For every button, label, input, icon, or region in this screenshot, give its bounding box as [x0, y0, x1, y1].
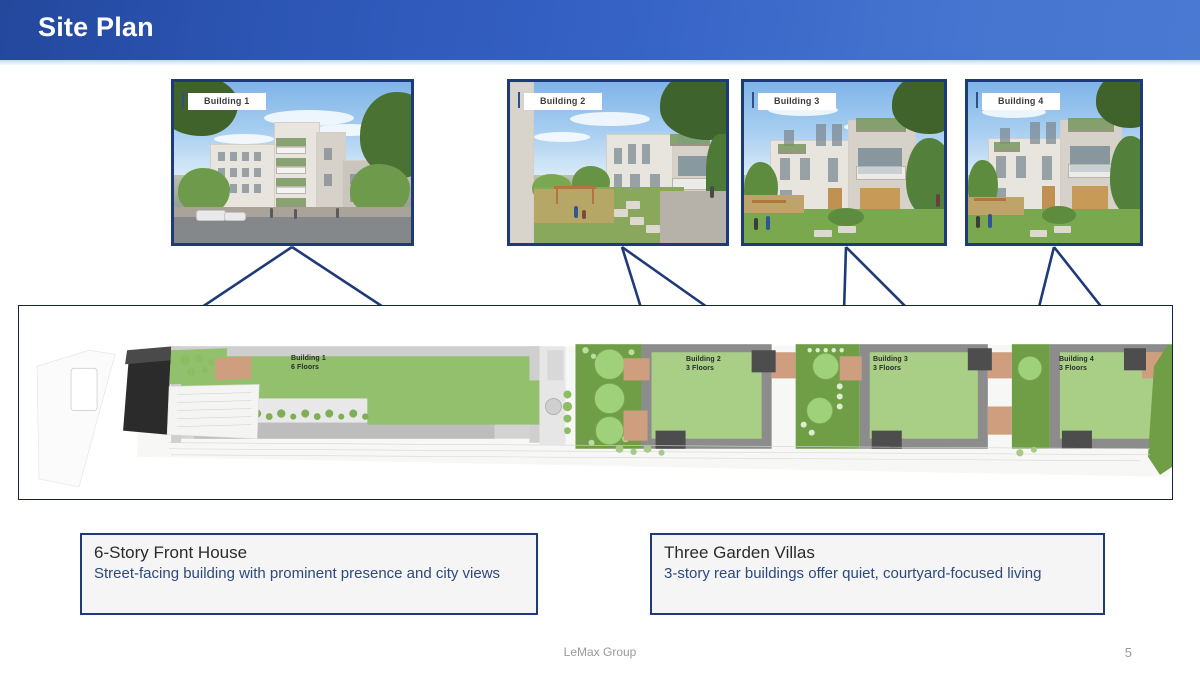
entry-terrace-tan [215, 356, 251, 380]
cloud-shape [570, 112, 650, 126]
building1-courtyard-green [367, 380, 547, 424]
entry-canopy [547, 350, 563, 380]
label-tick [518, 92, 520, 108]
slide-header-bar [0, 0, 1200, 60]
tree-canopy [1110, 136, 1143, 216]
header-underline [0, 60, 1200, 65]
photo-label-4: Building 4 [982, 93, 1060, 110]
window [832, 124, 842, 146]
balcony-railing [276, 166, 306, 174]
window [230, 184, 237, 193]
villa2-entry-dark [752, 350, 776, 372]
window [324, 174, 332, 186]
stepping-stone [814, 230, 832, 237]
window-large [678, 156, 708, 176]
photo-label-2: Building 2 [524, 93, 602, 110]
site-plan-drawing [19, 306, 1172, 499]
window [1046, 122, 1056, 144]
stepping-stone [626, 201, 640, 209]
window [1016, 156, 1026, 178]
villa2-terrace-sw [624, 411, 648, 441]
tree-canopy [906, 138, 947, 218]
building-photo-4[interactable]: Building 4 [965, 79, 1143, 246]
stepping-stone [614, 209, 628, 217]
balcony-railing [1068, 164, 1114, 178]
stepping-stone [646, 225, 660, 233]
footer-page-number: 5 [1125, 645, 1132, 660]
parked-car [224, 212, 246, 221]
walkway [660, 191, 729, 243]
plan-label-building-3: Building 33 Floors [873, 355, 908, 373]
stepping-stone [838, 226, 856, 233]
label-tick [182, 92, 184, 108]
window [816, 124, 826, 146]
window [324, 148, 332, 160]
window [1042, 156, 1052, 180]
villa3-terrace-se [988, 407, 1012, 435]
stepping-stone [1054, 226, 1071, 233]
stepping-stone [630, 217, 644, 225]
villa3-parking [872, 431, 902, 449]
villa3-entry-dark [968, 348, 992, 370]
pedestrian [936, 194, 940, 207]
shrub [1042, 206, 1076, 224]
pedestrian [336, 208, 339, 218]
pedestrian [582, 210, 586, 219]
balcony-railing [276, 146, 306, 154]
balcony-railing [276, 186, 306, 194]
window [800, 158, 810, 180]
caption-box-garden-villas[interactable]: Three Garden Villas 3-story rear buildin… [650, 533, 1105, 615]
play-area-sand [744, 195, 804, 213]
pedestrian [294, 209, 297, 219]
window [1030, 122, 1040, 144]
label-tick [976, 92, 978, 108]
window [628, 144, 636, 164]
building-photo-1[interactable]: Building 1 [171, 79, 414, 246]
footer-company-name: LeMax Group [0, 645, 1200, 659]
window [828, 158, 838, 182]
pedestrian [754, 218, 758, 230]
playground-frame [974, 198, 1006, 201]
window [242, 152, 249, 161]
pedestrian [988, 214, 992, 228]
villa4-entry-dark [1124, 348, 1146, 370]
playground-frame [752, 200, 786, 203]
window [614, 148, 622, 164]
photo-label-3: Building 3 [758, 93, 836, 110]
pedestrian [976, 216, 980, 228]
page-title: Site Plan [38, 12, 154, 43]
window [254, 152, 261, 161]
pedestrian [574, 206, 578, 218]
courtyard-trees-2 [1018, 356, 1042, 380]
caption-box-front-house[interactable]: 6-Story Front House Street-facing buildi… [80, 533, 538, 615]
playground-frame [554, 186, 596, 189]
site-plan-frame[interactable]: Building 16 Floors Building 23 Floors Bu… [18, 305, 1173, 500]
window [254, 184, 261, 193]
pedestrian [270, 208, 273, 218]
parked-car [196, 210, 226, 221]
cloud-shape [534, 132, 590, 142]
plan-label-building-2: Building 23 Floors [686, 355, 721, 373]
window [642, 144, 650, 164]
pedestrian [710, 186, 714, 198]
window [230, 168, 237, 177]
window [996, 156, 1006, 178]
parked-car-plan [71, 368, 97, 410]
playground-post [556, 186, 558, 204]
caption-body-2: 3-story rear buildings offer quiet, cour… [664, 564, 1091, 584]
stepping-stone [1030, 230, 1047, 237]
balcony-railing [856, 166, 906, 180]
window [780, 158, 790, 180]
window [242, 168, 249, 177]
balcony-planting [994, 142, 1020, 152]
plan-label-building-1: Building 16 Floors [291, 354, 326, 372]
window [242, 184, 249, 193]
plan-label-building-4: Building 43 Floors [1059, 355, 1094, 373]
slide-canvas: Site Plan [0, 0, 1200, 675]
playground-post [592, 186, 594, 204]
photo-label-1: Building 1 [188, 93, 266, 110]
building-photo-3[interactable]: Building 3 [741, 79, 947, 246]
window [230, 152, 237, 161]
caption-body-1: Street-facing building with prominent pr… [94, 564, 524, 584]
caption-title-2: Three Garden Villas [664, 543, 1091, 563]
villa2-terrace-west [624, 358, 650, 380]
shrub [828, 208, 864, 226]
window [218, 152, 225, 161]
window [254, 168, 261, 177]
villa3-terrace-west [840, 356, 862, 380]
villa4-parking [1062, 431, 1092, 449]
cloud-shape [214, 134, 274, 144]
label-tick [752, 92, 754, 108]
large-trees [594, 349, 624, 444]
pedestrian [766, 216, 770, 230]
building-photo-2[interactable]: Building 2 [507, 79, 729, 246]
balcony-planting [778, 144, 806, 154]
circular-feature [545, 398, 561, 414]
caption-title-1: 6-Story Front House [94, 543, 524, 563]
